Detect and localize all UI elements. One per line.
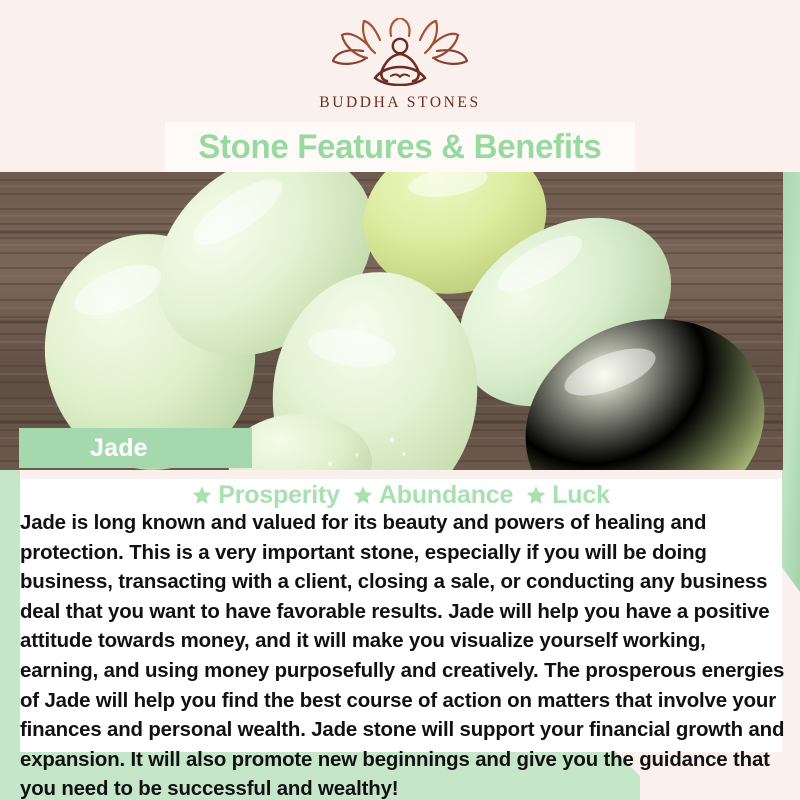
page-title: Stone Features & Benefits xyxy=(198,128,601,167)
stone-name: Jade xyxy=(90,434,148,463)
lotus-meditation-icon xyxy=(325,18,475,86)
title-band: Stone Features & Benefits xyxy=(165,122,635,172)
brand-name: BUDDHA STONES xyxy=(0,94,800,112)
stone-info-card: BUDDHA STONES Stone Features & Benefits xyxy=(0,0,800,800)
keyword-item: Luck xyxy=(526,481,610,510)
keyword-item: Abundance xyxy=(353,481,513,510)
brand-logo: BUDDHA STONES xyxy=(0,18,800,112)
stone-photo xyxy=(0,172,783,470)
description-text: Jade is long known and valued for its be… xyxy=(20,509,786,800)
keyword-label: Luck xyxy=(552,481,610,510)
keyword-label: Prosperity xyxy=(218,481,340,510)
star-icon xyxy=(192,485,212,505)
keyword-label: Abundance xyxy=(379,481,513,510)
keyword-list: Prosperity Abundance Luck xyxy=(20,480,782,510)
decor-green-left-lower xyxy=(0,446,20,746)
star-icon xyxy=(526,485,546,505)
cream-divider-strip xyxy=(20,470,782,479)
star-icon xyxy=(353,485,373,505)
keyword-item: Prosperity xyxy=(192,481,340,510)
stone-name-band: Jade xyxy=(19,428,252,468)
